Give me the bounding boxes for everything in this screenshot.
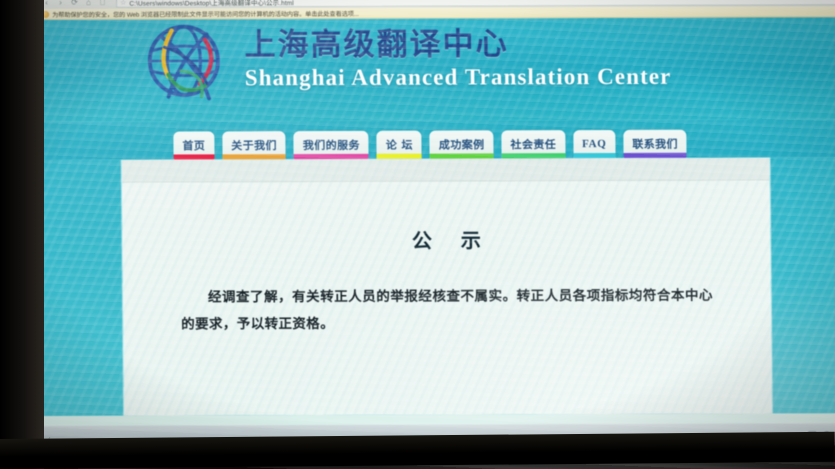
nav-tab-contact-accent (623, 153, 687, 158)
notice-body-text: 经调查了解，有关转正人员的举报经核查不属实。转正人员各项指标均符合本中心的要求，… (181, 283, 714, 339)
monitor-photo: ‹ › ⟳ ⌂ ⎕ ☆ C:\Users\windows\Desktop\上海高… (0, 0, 835, 469)
nav-tab-faq[interactable]: FAQ (573, 130, 615, 158)
nav-tab-forum[interactable]: 论 坛 (377, 131, 422, 159)
monitor-bezel-left (0, 0, 44, 469)
reading-view-icon[interactable]: ⎕ (98, 0, 107, 6)
nav-tab-social-responsibility[interactable]: 社会责任 (501, 130, 565, 158)
nav-tab-about-accent (222, 154, 286, 159)
site-title-en: Shanghai Advanced Translation Center (245, 64, 672, 91)
reload-icon[interactable]: ⟳ (70, 0, 79, 6)
site-title-cn: 上海高级翻译中心 (244, 28, 671, 63)
nav-tab-services[interactable]: 我们的服务 (294, 131, 369, 159)
home-icon[interactable]: ⌂ (84, 0, 93, 6)
screen-area: ‹ › ⟳ ⌂ ⎕ ☆ C:\Users\windows\Desktop\上海高… (38, 0, 835, 448)
nav-tab-forum-label: 论 坛 (386, 137, 413, 153)
nav-tab-cases-label: 成功案例 (439, 136, 485, 152)
page-title: 公 示 (122, 223, 770, 254)
nav-tab-services-label: 我们的服务 (303, 137, 360, 153)
nav-tab-home[interactable]: 首页 (173, 131, 214, 159)
nav-tab-social-responsibility-accent (502, 153, 566, 158)
monitor-bezel-bottom (0, 432, 835, 469)
nav-tab-faq-label: FAQ (582, 138, 606, 150)
nav-tab-services-accent (294, 154, 369, 159)
nav-tab-home-label: 首页 (182, 137, 205, 153)
nav-tab-about-label: 关于我们 (231, 137, 277, 153)
main-navigation: 首页 关于我们 我们的服务 论 坛 成功案例 社会责任 (39, 119, 835, 160)
address-bar-text: C:\Users\windows\Desktop\上海高级翻译中心\公示.htm… (129, 0, 294, 7)
nav-tab-social-responsibility-label: 社会责任 (510, 136, 556, 152)
nav-tab-cases[interactable]: 成功案例 (430, 130, 494, 158)
forward-arrow-icon[interactable]: › (56, 0, 65, 6)
nav-tab-faq-accent (573, 153, 615, 158)
content-panel: 公 示 经调查了解，有关转正人员的举报经核查不属实。转正人员各项指标均符合本中心… (122, 157, 772, 415)
nav-tab-home-accent (174, 154, 215, 159)
security-infobar-text: 为帮助保护您的安全，您的 Web 浏览器已经限制此文件显示可能访问您的计算机的活… (52, 8, 359, 18)
globe-sphere-logo-icon (138, 19, 235, 111)
nav-tab-forum-accent (377, 154, 422, 159)
star-icon[interactable]: ☆ (120, 0, 126, 6)
page-body: 公 示 经调查了解，有关转正人员的举报经核查不属实。转正人员各项指标均符合本中心… (40, 157, 835, 416)
nav-tab-contact-label: 联系我们 (632, 136, 678, 152)
site-header: 上海高级翻译中心 Shanghai Advanced Translation C… (38, 17, 835, 122)
nav-tab-contact[interactable]: 联系我们 (623, 130, 687, 158)
nav-tab-cases-accent (430, 153, 494, 158)
nav-tab-about[interactable]: 关于我们 (222, 131, 286, 159)
